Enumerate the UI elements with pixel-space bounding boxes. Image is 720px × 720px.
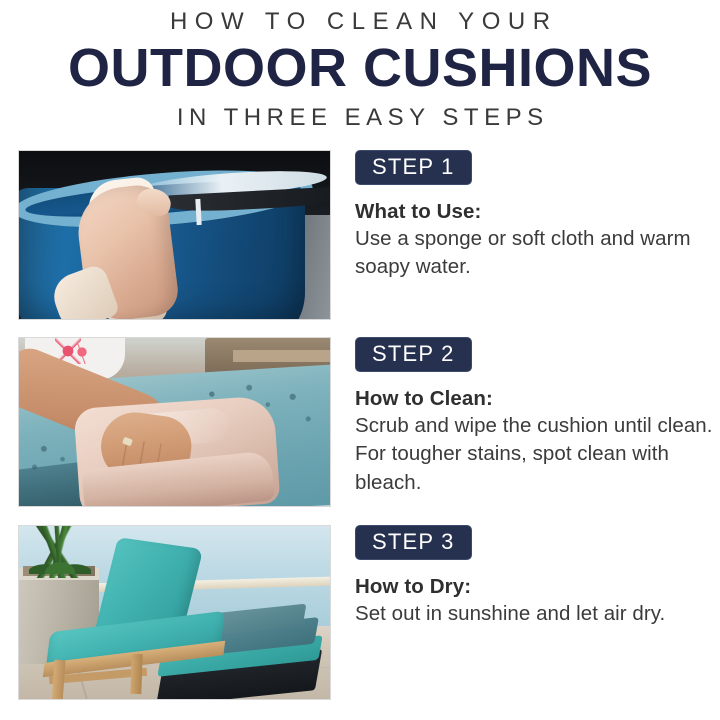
step-1-body: Use a sponge or soft cloth and warm soap…: [355, 225, 720, 282]
step-1-heading: What to Use:: [355, 200, 720, 224]
step-3-copy: STEP 3 How to Dry: Set out in sunshine a…: [355, 525, 720, 628]
chaise-leg: [130, 654, 142, 694]
step-2-body: Scrub and wipe the cushion until clean. …: [355, 412, 720, 497]
step-1-photo: [18, 150, 331, 320]
step-3-body: Set out in sunshine and let air dry.: [355, 600, 720, 628]
page-title: OUTDOOR CUSHIONS: [0, 38, 720, 98]
step-3-badge: STEP 3: [355, 525, 472, 560]
step-3-heading: How to Dry:: [355, 575, 720, 599]
step-1-badge: STEP 1: [355, 150, 472, 185]
step-2-photo: [18, 337, 331, 507]
wicker-furniture-highlight: [233, 350, 331, 362]
step-2-badge: STEP 2: [355, 337, 472, 372]
step-2-heading: How to Clean:: [355, 387, 720, 411]
step-3-photo: [18, 525, 331, 700]
header-kicker: HOW TO CLEAN YOUR: [0, 8, 720, 36]
header-subkicker: IN THREE EASY STEPS: [0, 104, 720, 132]
infographic-header: HOW TO CLEAN YOUR OUTDOOR CUSHIONS IN TH…: [0, 0, 720, 132]
shirt-floral-print-icon: [73, 344, 91, 364]
agave-lower-leaves: [29, 550, 91, 574]
step-2-copy: STEP 2 How to Clean: Scrub and wipe the …: [355, 337, 720, 497]
step-1-copy: STEP 1 What to Use: Use a sponge or soft…: [355, 150, 720, 282]
